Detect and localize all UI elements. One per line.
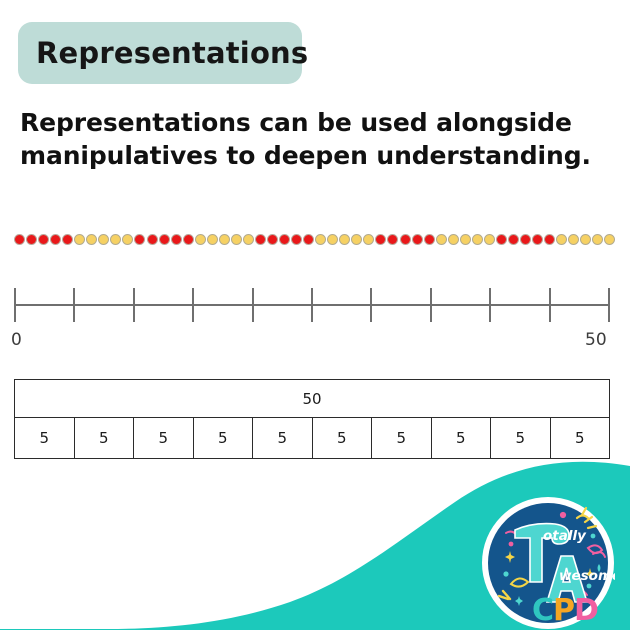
number-line bbox=[14, 288, 610, 322]
counter-red bbox=[412, 234, 423, 245]
logo-text-p: P bbox=[553, 593, 575, 628]
title-pill: Representations bbox=[18, 22, 302, 84]
counter-red bbox=[520, 234, 531, 245]
counter-yellow bbox=[327, 234, 338, 245]
counter-red bbox=[544, 234, 555, 245]
bar-model-part: 5 bbox=[15, 418, 75, 458]
counter-yellow bbox=[207, 234, 218, 245]
counter-yellow bbox=[484, 234, 495, 245]
number-line-start-label: 0 bbox=[11, 330, 22, 350]
counter-yellow bbox=[110, 234, 121, 245]
counter-red bbox=[400, 234, 411, 245]
counter-yellow bbox=[243, 234, 254, 245]
body-line-2: manipulatives to deepen understanding. bbox=[20, 139, 614, 172]
counter-red bbox=[159, 234, 170, 245]
counter-yellow bbox=[315, 234, 326, 245]
number-line-tick bbox=[549, 288, 551, 322]
bar-model: 50 5555555555 bbox=[14, 379, 610, 459]
counter-red bbox=[508, 234, 519, 245]
counter-yellow bbox=[231, 234, 242, 245]
counter-yellow bbox=[86, 234, 97, 245]
bar-model-part: 5 bbox=[491, 418, 551, 458]
logo-text-awesome: wesome! bbox=[559, 568, 615, 584]
counter-yellow bbox=[74, 234, 85, 245]
body-paragraph: Representations can be used alongside ma… bbox=[20, 106, 614, 172]
number-line-tick bbox=[252, 288, 254, 322]
page-title: Representations bbox=[36, 39, 308, 68]
bar-model-whole: 50 bbox=[15, 380, 609, 418]
totally-awesome-cpd-logo[interactable]: otally wesome! C P D bbox=[481, 496, 615, 630]
bar-model-parts: 5555555555 bbox=[15, 418, 609, 458]
counter-row bbox=[14, 231, 616, 247]
counter-red bbox=[147, 234, 158, 245]
bar-model-part: 5 bbox=[551, 418, 610, 458]
number-line-tick bbox=[430, 288, 432, 322]
number-line-tick bbox=[73, 288, 75, 322]
counter-yellow bbox=[448, 234, 459, 245]
number-line-tick bbox=[311, 288, 313, 322]
counter-red bbox=[171, 234, 182, 245]
logo-text-totally: otally bbox=[543, 528, 587, 544]
counter-yellow bbox=[580, 234, 591, 245]
counter-red bbox=[291, 234, 302, 245]
counter-yellow bbox=[363, 234, 374, 245]
counter-yellow bbox=[556, 234, 567, 245]
counter-yellow bbox=[460, 234, 471, 245]
counter-yellow bbox=[122, 234, 133, 245]
number-line-tick bbox=[192, 288, 194, 322]
bar-model-part: 5 bbox=[253, 418, 313, 458]
counter-red bbox=[50, 234, 61, 245]
bar-model-part: 5 bbox=[372, 418, 432, 458]
counter-red bbox=[303, 234, 314, 245]
body-line-1: Representations can be used alongside bbox=[20, 106, 614, 139]
counter-yellow bbox=[219, 234, 230, 245]
counter-red bbox=[496, 234, 507, 245]
counter-yellow bbox=[339, 234, 350, 245]
bar-model-part: 5 bbox=[194, 418, 254, 458]
counter-red bbox=[532, 234, 543, 245]
slide-canvas: Representations Representations can be u… bbox=[0, 0, 630, 630]
logo-text-c: C bbox=[532, 593, 554, 628]
bar-model-part: 5 bbox=[134, 418, 194, 458]
counter-yellow bbox=[195, 234, 206, 245]
counter-yellow bbox=[98, 234, 109, 245]
counter-red bbox=[62, 234, 73, 245]
counter-yellow bbox=[351, 234, 362, 245]
counter-yellow bbox=[604, 234, 615, 245]
counter-yellow bbox=[568, 234, 579, 245]
counter-red bbox=[279, 234, 290, 245]
counter-red bbox=[38, 234, 49, 245]
counter-red bbox=[134, 234, 145, 245]
counter-yellow bbox=[592, 234, 603, 245]
bar-model-part: 5 bbox=[313, 418, 373, 458]
bar-model-whole-value: 50 bbox=[302, 390, 321, 408]
number-line-tick bbox=[489, 288, 491, 322]
number-line-tick bbox=[14, 288, 16, 322]
bar-model-part: 5 bbox=[432, 418, 492, 458]
counter-red bbox=[387, 234, 398, 245]
counter-yellow bbox=[472, 234, 483, 245]
counter-yellow bbox=[436, 234, 447, 245]
number-line-tick bbox=[370, 288, 372, 322]
counter-red bbox=[14, 234, 25, 245]
number-line-tick bbox=[133, 288, 135, 322]
counter-red bbox=[183, 234, 194, 245]
number-line-end-label: 50 bbox=[585, 330, 607, 350]
number-line-tick bbox=[608, 288, 610, 322]
logo-text-d: D bbox=[574, 593, 599, 628]
counter-red bbox=[26, 234, 37, 245]
counter-red bbox=[255, 234, 266, 245]
bar-model-part: 5 bbox=[75, 418, 135, 458]
counter-red bbox=[267, 234, 278, 245]
counter-red bbox=[375, 234, 386, 245]
counter-red bbox=[424, 234, 435, 245]
